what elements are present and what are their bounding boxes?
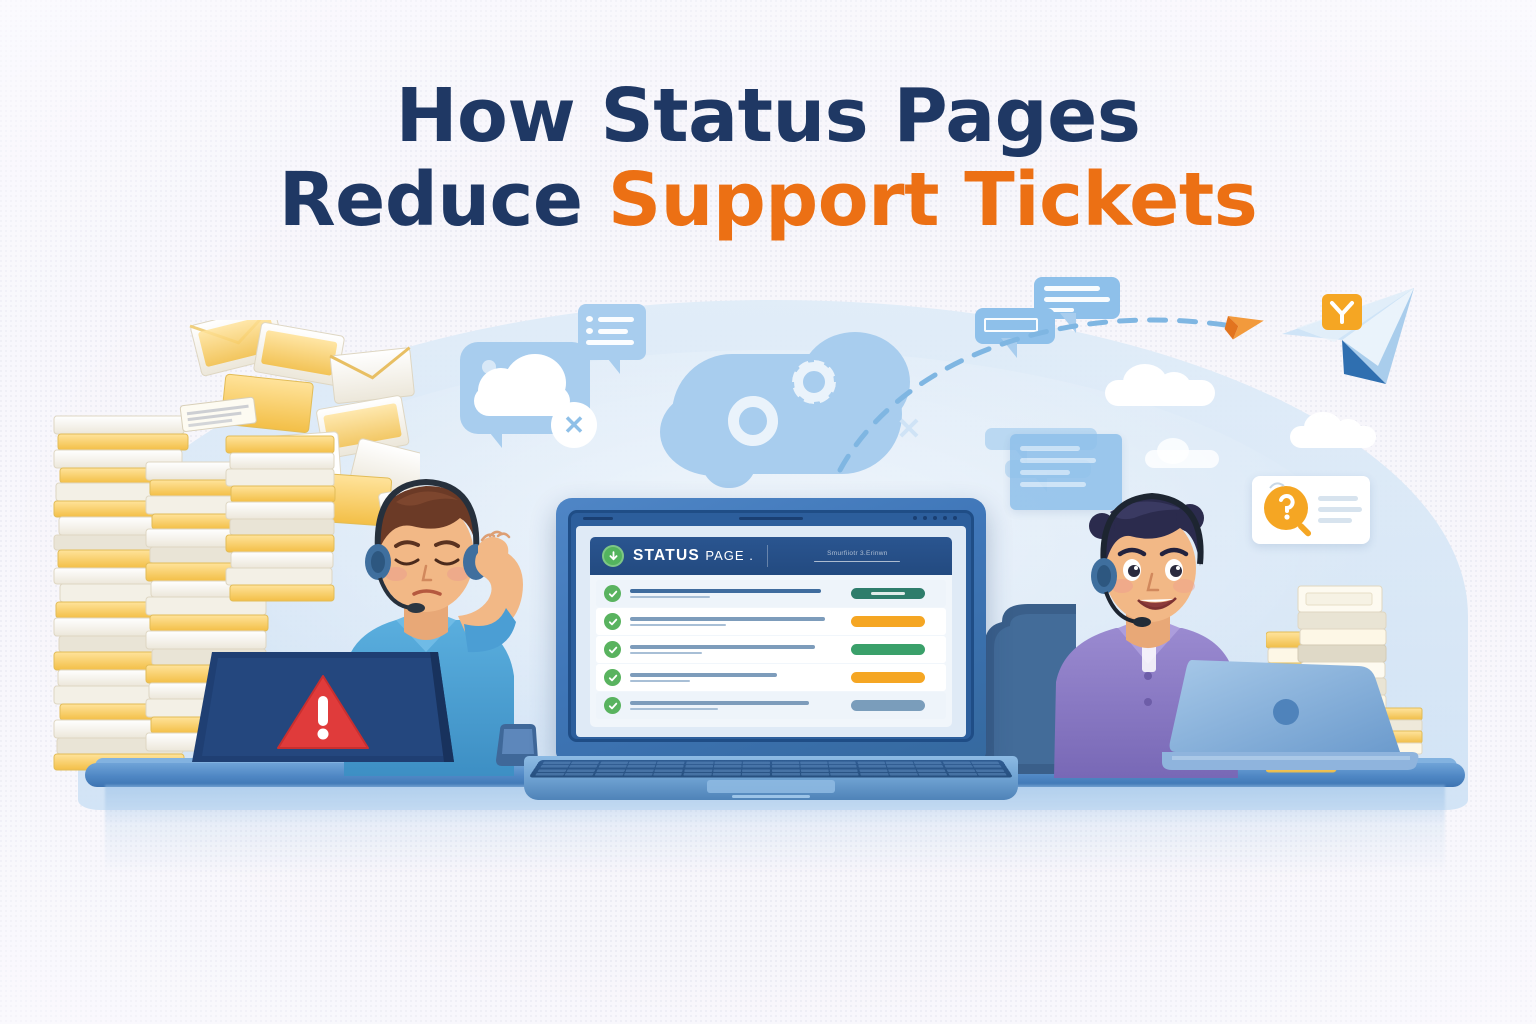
- scene: ✕ ✕: [0, 260, 1536, 900]
- table-row[interactable]: [596, 636, 946, 663]
- status-page-title-bold: STATUS: [633, 547, 700, 564]
- status-badge: [851, 616, 925, 627]
- check-circle-icon: [604, 613, 621, 630]
- x-error-icon: ✕: [880, 400, 938, 458]
- row-status-cell: [838, 616, 938, 627]
- row-status-cell: [838, 644, 938, 655]
- cloud-icon: [1145, 438, 1219, 468]
- page-title: How Status Pages Reduce Support Tickets: [0, 74, 1536, 243]
- title-line-2: Reduce Support Tickets: [0, 158, 1536, 242]
- download-arrow-icon: [602, 545, 624, 567]
- laptop-lid: STATUS PAGE . Smurfiiotr 3.Erinwn: [556, 498, 986, 760]
- status-badge: [851, 644, 925, 655]
- table-row[interactable]: [596, 692, 946, 719]
- status-page-header: STATUS PAGE . Smurfiiotr 3.Erinwn: [590, 537, 952, 575]
- laptop-trackpad: [707, 780, 835, 793]
- chat-bubble-icon: [975, 308, 1055, 344]
- camera-line: [739, 517, 803, 520]
- x-error-icon: ✕: [551, 402, 597, 448]
- table-row[interactable]: [596, 608, 946, 635]
- status-page-meta-rule: [814, 561, 900, 563]
- laptop-screen: STATUS PAGE . Smurfiiotr 3.Erinwn: [576, 526, 966, 737]
- row-text-placeholder: [630, 701, 829, 711]
- row-text-placeholder: [630, 673, 829, 683]
- illustration-canvas: ✕ ✕: [0, 0, 1536, 1024]
- status-page-title: STATUS PAGE .: [633, 547, 754, 565]
- row-text-placeholder: [630, 617, 829, 627]
- laptop-base: [524, 756, 1018, 800]
- table-row[interactable]: [596, 664, 946, 691]
- status-page-meta-text: Smurfiiotr 3.Erinwn: [827, 550, 888, 557]
- status-badge: [851, 588, 925, 599]
- check-circle-icon: [604, 669, 621, 686]
- laptop-bezel: STATUS PAGE . Smurfiiotr 3.Erinwn: [568, 510, 974, 742]
- bezel-marker: [583, 517, 613, 520]
- status-badge: [851, 700, 925, 711]
- row-status-cell: [838, 672, 938, 683]
- light-laptop: [1162, 656, 1420, 770]
- title-line-2-plain: Reduce: [279, 157, 608, 243]
- laptop-notch: [732, 795, 810, 798]
- camera-dots: [913, 516, 957, 520]
- row-status-cell: [838, 700, 938, 711]
- title-line-1: How Status Pages: [0, 74, 1536, 158]
- title-line-2-accent: Support Tickets: [608, 157, 1257, 243]
- laptop-keyboard: [529, 760, 1014, 777]
- row-status-cell: [838, 588, 938, 599]
- status-page-title-light: PAGE .: [705, 548, 753, 563]
- row-text-placeholder: [630, 645, 829, 655]
- status-page-meta: Smurfiiotr 3.Erinwn: [781, 550, 940, 563]
- gear-cloud-icon: [632, 314, 922, 494]
- check-circle-icon: [604, 697, 621, 714]
- dark-laptop: [192, 646, 454, 770]
- header-divider: [767, 545, 768, 567]
- status-page-rows: [590, 575, 952, 727]
- table-row[interactable]: [596, 580, 946, 607]
- cloud-icon: [1290, 410, 1376, 448]
- check-circle-icon: [604, 641, 621, 658]
- status-page-laptop: STATUS PAGE . Smurfiiotr 3.Erinwn: [556, 498, 986, 798]
- status-badge: [851, 672, 925, 683]
- row-text-placeholder: [630, 589, 829, 599]
- check-circle-icon: [604, 585, 621, 602]
- cloud-icon: [1105, 360, 1215, 406]
